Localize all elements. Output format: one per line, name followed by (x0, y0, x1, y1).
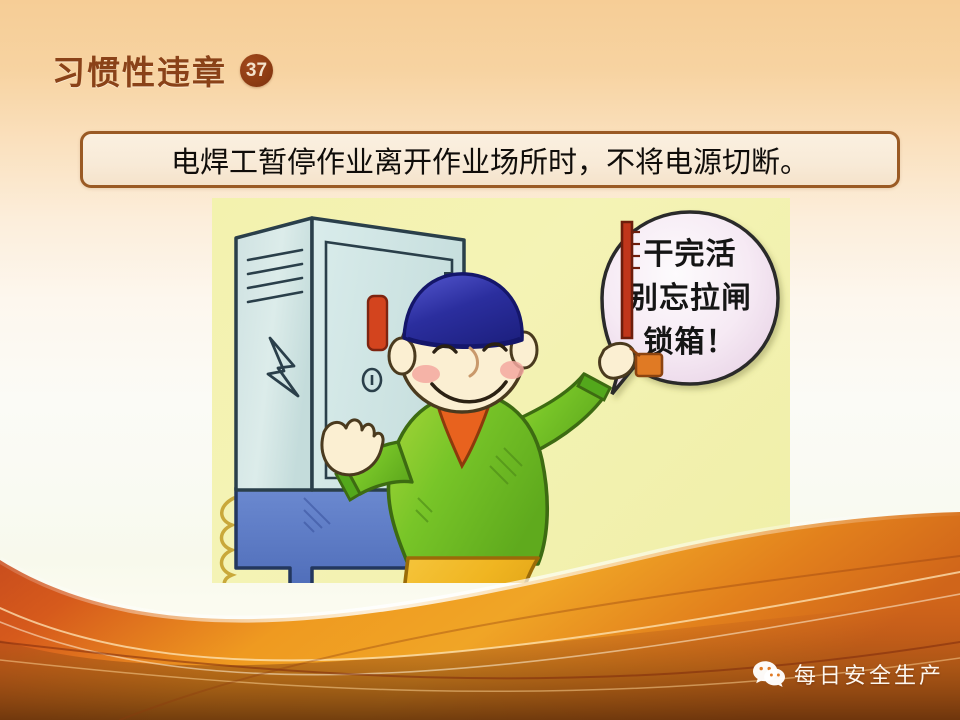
statement-box: 电焊工暂停作业离开作业场所时，不将电源切断。 (80, 131, 900, 188)
watermark-label: 每日安全生产 (794, 658, 944, 690)
statement-text: 电焊工暂停作业离开作业场所时，不将电源切断。 (171, 139, 809, 181)
wechat-icon (752, 660, 786, 688)
slide-canvas: 习惯性违章 37 电焊工暂停作业离开作业场所时，不将电源切断。 (0, 0, 960, 720)
speech-bubble-text: 干完活 别忘拉闸 锁箱！ (628, 237, 752, 359)
watermark: 每日安全生产 (752, 658, 944, 690)
slide-title-row: 习惯性违章 37 (52, 46, 273, 94)
svg-text:干完活: 干完活 (644, 237, 737, 271)
title-number-badge: 37 (240, 54, 273, 87)
svg-text:别忘拉闸: 别忘拉闸 (628, 281, 752, 315)
page-title: 习惯性违章 (52, 46, 227, 94)
